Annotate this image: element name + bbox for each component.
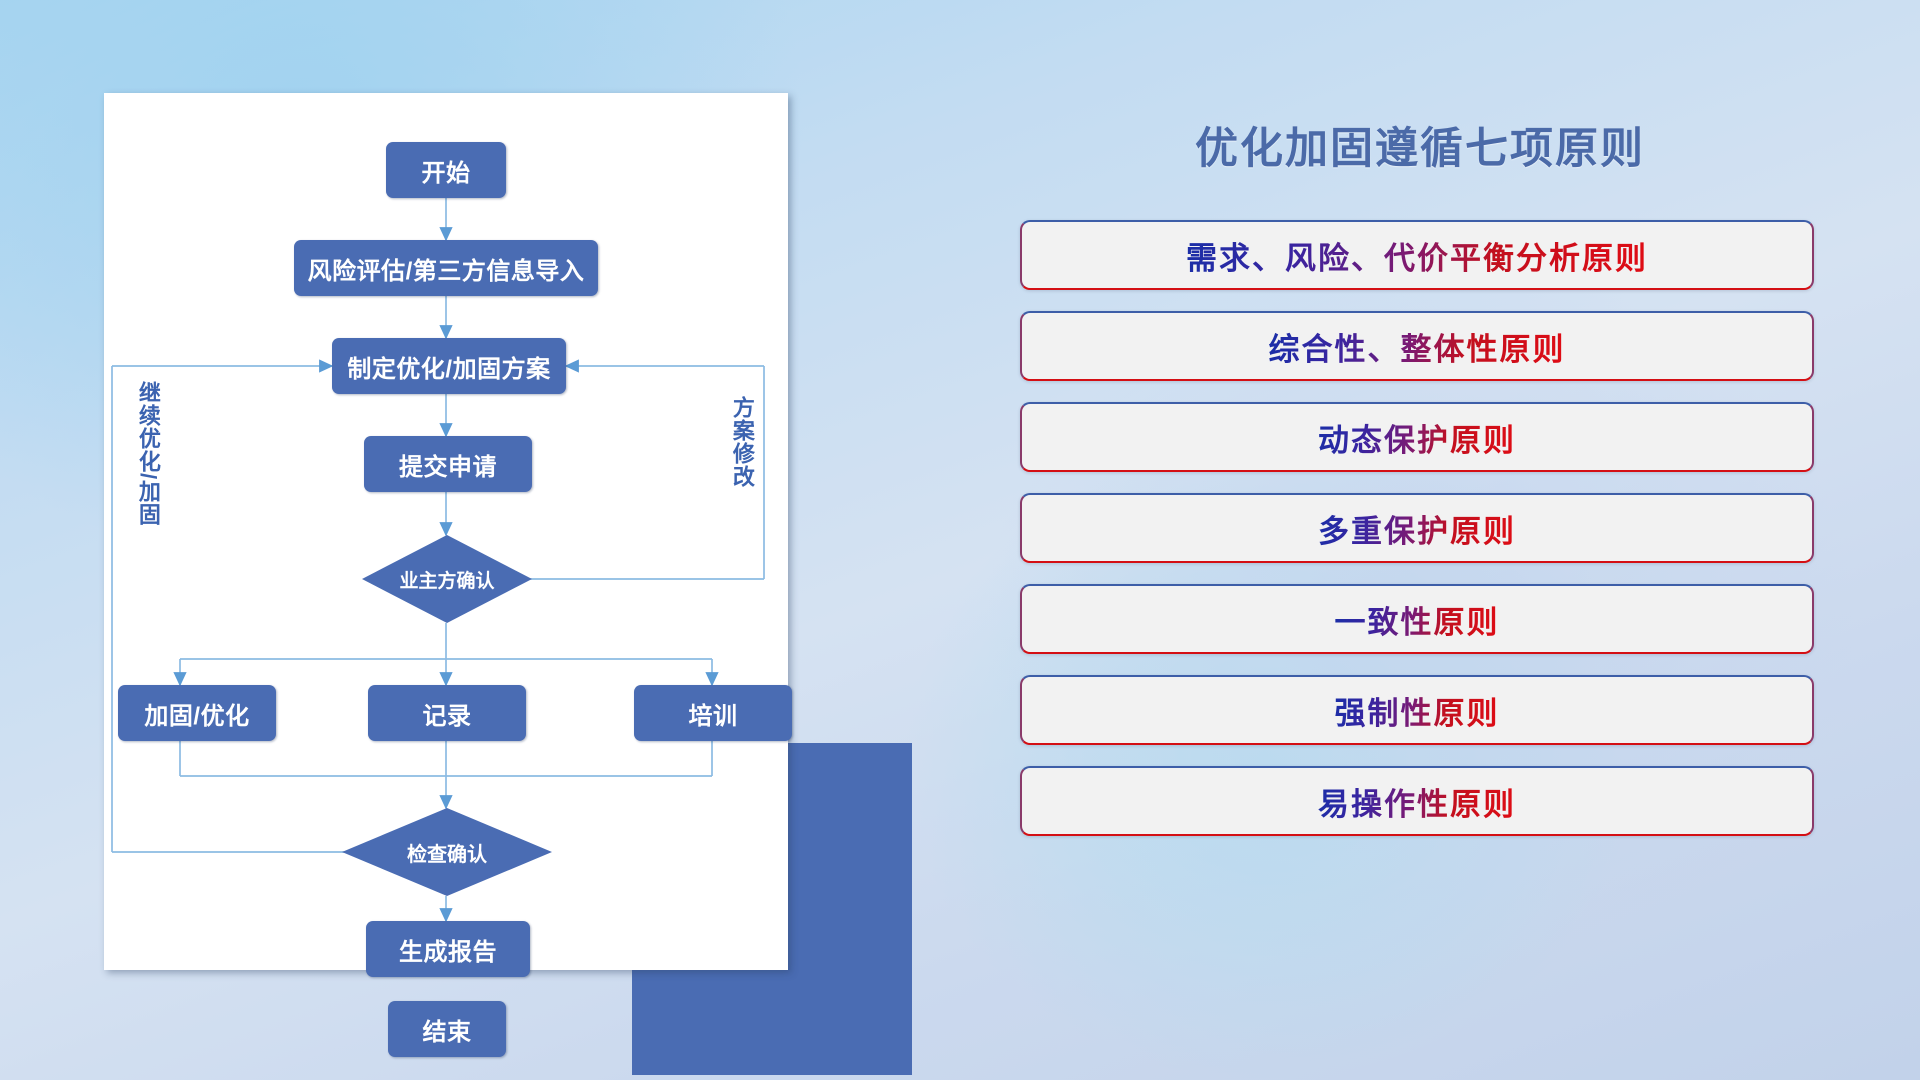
principles-panel: 优化加固遵循七项原则 需求、风险、代价平衡分析原则 综合性、整体性原则 动态保护… [1020,100,1820,1000]
flow-node-record[interactable]: 记录 [368,685,526,741]
flow-node-generate-report-label: 生成报告 [399,932,497,967]
flow-node-reinforce[interactable]: 加固/优化 [118,685,276,741]
principle-card-4-label: 多重保护原则 [1318,506,1516,551]
flow-node-end-label: 结束 [423,1012,472,1047]
flow-node-generate-report[interactable]: 生成报告 [366,921,530,977]
principle-card-1-label: 需求、风险、代价平衡分析原则 [1186,233,1648,278]
flow-node-start-label: 开始 [422,153,471,188]
flow-node-end[interactable]: 结束 [388,1001,506,1057]
flow-node-submit-application[interactable]: 提交申请 [364,436,532,492]
flow-node-reinforce-label: 加固/优化 [144,696,249,731]
flow-node-risk-assessment-label: 风险评估/第三方信息导入 [308,251,585,286]
flow-node-record-label: 记录 [423,696,472,731]
flow-loop-label-right: 方案修改 [730,396,753,488]
flowchart-panel: 开始 风险评估/第三方信息导入 制定优化/加固方案 提交申请 业主方确认 加固/… [104,93,788,973]
principle-card-2[interactable]: 综合性、整体性原则 [1020,311,1814,381]
principle-card-4[interactable]: 多重保护原则 [1020,493,1814,563]
flow-node-submit-application-label: 提交申请 [399,447,497,482]
principle-card-5-label: 一致性原则 [1335,597,1500,642]
principle-card-1[interactable]: 需求、风险、代价平衡分析原则 [1020,220,1814,290]
flow-node-plan[interactable]: 制定优化/加固方案 [332,338,566,394]
flow-node-check-confirm[interactable]: 检查确认 [342,808,552,896]
principle-card-5[interactable]: 一致性原则 [1020,584,1814,654]
principle-card-6[interactable]: 强制性原则 [1020,675,1814,745]
principle-card-3[interactable]: 动态保护原则 [1020,402,1814,472]
principle-card-7-label: 易操作性原则 [1318,779,1516,824]
principle-card-3-label: 动态保护原则 [1318,415,1516,460]
flow-node-owner-confirm-label: 业主方确认 [399,566,494,593]
flow-node-risk-assessment[interactable]: 风险评估/第三方信息导入 [294,240,598,296]
flow-node-training[interactable]: 培训 [634,685,792,741]
flow-node-start[interactable]: 开始 [386,142,506,198]
principle-card-6-label: 强制性原则 [1335,688,1500,733]
flow-node-plan-label: 制定优化/加固方案 [347,349,550,384]
principle-card-7[interactable]: 易操作性原则 [1020,766,1814,836]
flow-node-owner-confirm[interactable]: 业主方确认 [362,535,532,623]
principle-card-2-label: 综合性、整体性原则 [1269,324,1566,369]
flow-node-check-confirm-label: 检查确认 [407,838,487,867]
flow-loop-label-left: 继续优化/加固 [136,381,159,526]
principles-title: 优化加固遵循七项原则 [1020,114,1820,176]
flow-node-training-label: 培训 [689,696,738,731]
